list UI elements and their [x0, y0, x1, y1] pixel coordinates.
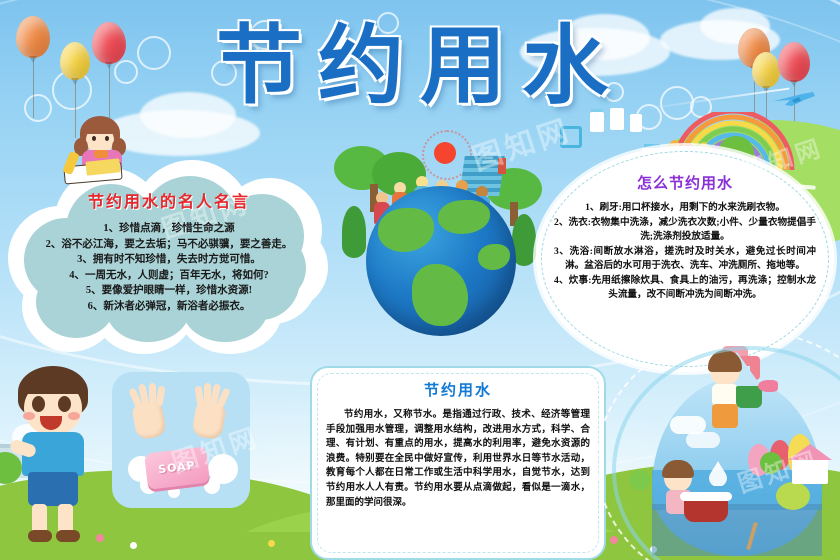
- quote-line: 6、新沐者必弹冠，新浴者必振衣。: [28, 299, 310, 315]
- boy-shoe: [56, 530, 80, 542]
- chimney-decor: [498, 158, 506, 174]
- quote-line: 1、珍惜点滴，珍惜生命之源: [28, 221, 310, 237]
- definition-panel: 节约用水 节约用水，又称节水。是指通过行政、技术、经济等管理手段加强用水管理，调…: [310, 366, 606, 560]
- tip-item: 2、洗衣:衣物集中洗涤，减少洗衣次数;小件、少量衣物提倡手洗;洗涤剂投放适量。: [554, 216, 816, 244]
- definition-body: 节约用水，又称节水。是指通过行政、技术、经济等管理手段加强用水管理，调整用水结构…: [326, 408, 590, 510]
- landmass: [438, 200, 490, 234]
- quote-line: 2、浴不必江海，要之去垢；马不必骐骥，要之善走。: [28, 237, 310, 253]
- earth-globe: [366, 186, 516, 336]
- icon-cluster-decor: [630, 114, 642, 132]
- flower-decor: [268, 540, 275, 547]
- poster-canvas: 节约用水 节约用水的: [0, 0, 840, 560]
- page-title: 节约用水: [0, 18, 840, 114]
- landmass: [412, 264, 468, 326]
- boy-cheek: [23, 412, 35, 420]
- famous-quotes-title: 节约用水的名人名言: [28, 188, 310, 212]
- quote-line: 4、一周无水，人则虚；百年无水，将如何?: [28, 268, 310, 284]
- boy-shoe: [28, 530, 52, 542]
- how-to-save-water-list: 1、刷牙:用口杯接水，用剩下的水来洗刷衣物。 2、洗衣:衣物集中洗涤，减少洗衣次…: [554, 201, 816, 302]
- landmass: [378, 208, 434, 252]
- girl-collar: [94, 150, 108, 158]
- icon-cluster-decor: [560, 126, 582, 148]
- quote-line: 5、要像爱护眼睛一样，珍惜水资源!: [28, 283, 310, 299]
- girl-reading-illustration: [56, 114, 146, 186]
- girl-eye: [92, 136, 96, 141]
- finger: [155, 386, 165, 407]
- boy-eye: [32, 396, 45, 412]
- earth-globe-illustration: [330, 128, 550, 358]
- finger: [149, 383, 156, 403]
- quote-line: 3、拥有时不知珍惜，失去时方觉可惜。: [28, 252, 310, 268]
- boy-hair-fringe: [20, 372, 86, 394]
- boy-shorts: [28, 472, 78, 506]
- famous-quotes-panel: 节约用水的名人名言 1、珍惜点滴，珍惜生命之源 2、浴不必江海，要之去垢；马不必…: [14, 172, 324, 352]
- tip-item: 3、洗浴:间断放水淋浴，搓洗时及时关水，避免过长时间冲淋。盆浴后的水可用于洗衣、…: [554, 245, 816, 273]
- famous-quotes-list: 1、珍惜点滴，珍惜生命之源 2、浴不必江海，要之去垢；马不必骐骥，要之善走。 3…: [28, 221, 310, 314]
- soap-label: SOAP: [144, 446, 210, 489]
- flower-decor: [130, 542, 137, 549]
- bubble-foam: [168, 486, 180, 498]
- finger: [194, 386, 204, 407]
- pine-tree: [342, 206, 366, 258]
- flower-decor: [610, 536, 618, 544]
- landmass: [478, 244, 510, 270]
- boy-washing-hands-illustration: [6, 366, 118, 560]
- boy-eye: [58, 396, 71, 412]
- definition-title: 节约用水: [326, 379, 590, 400]
- girl-hair-bangs: [84, 122, 116, 134]
- boy-cheek: [68, 412, 80, 420]
- soap-bar: SOAP: [144, 446, 210, 489]
- tip-item: 1、刷牙:用口杯接水，用剩下的水来洗刷衣物。: [554, 201, 816, 215]
- tip-item: 4、炊事:先用纸擦除炊具、食具上的油污，再洗涤；控制水龙头流量，改不间断冲洗为间…: [554, 274, 816, 302]
- girl-eye: [105, 136, 109, 141]
- how-to-save-water-title: 怎么节约用水: [554, 172, 816, 193]
- soap-card: SOAP: [112, 372, 250, 508]
